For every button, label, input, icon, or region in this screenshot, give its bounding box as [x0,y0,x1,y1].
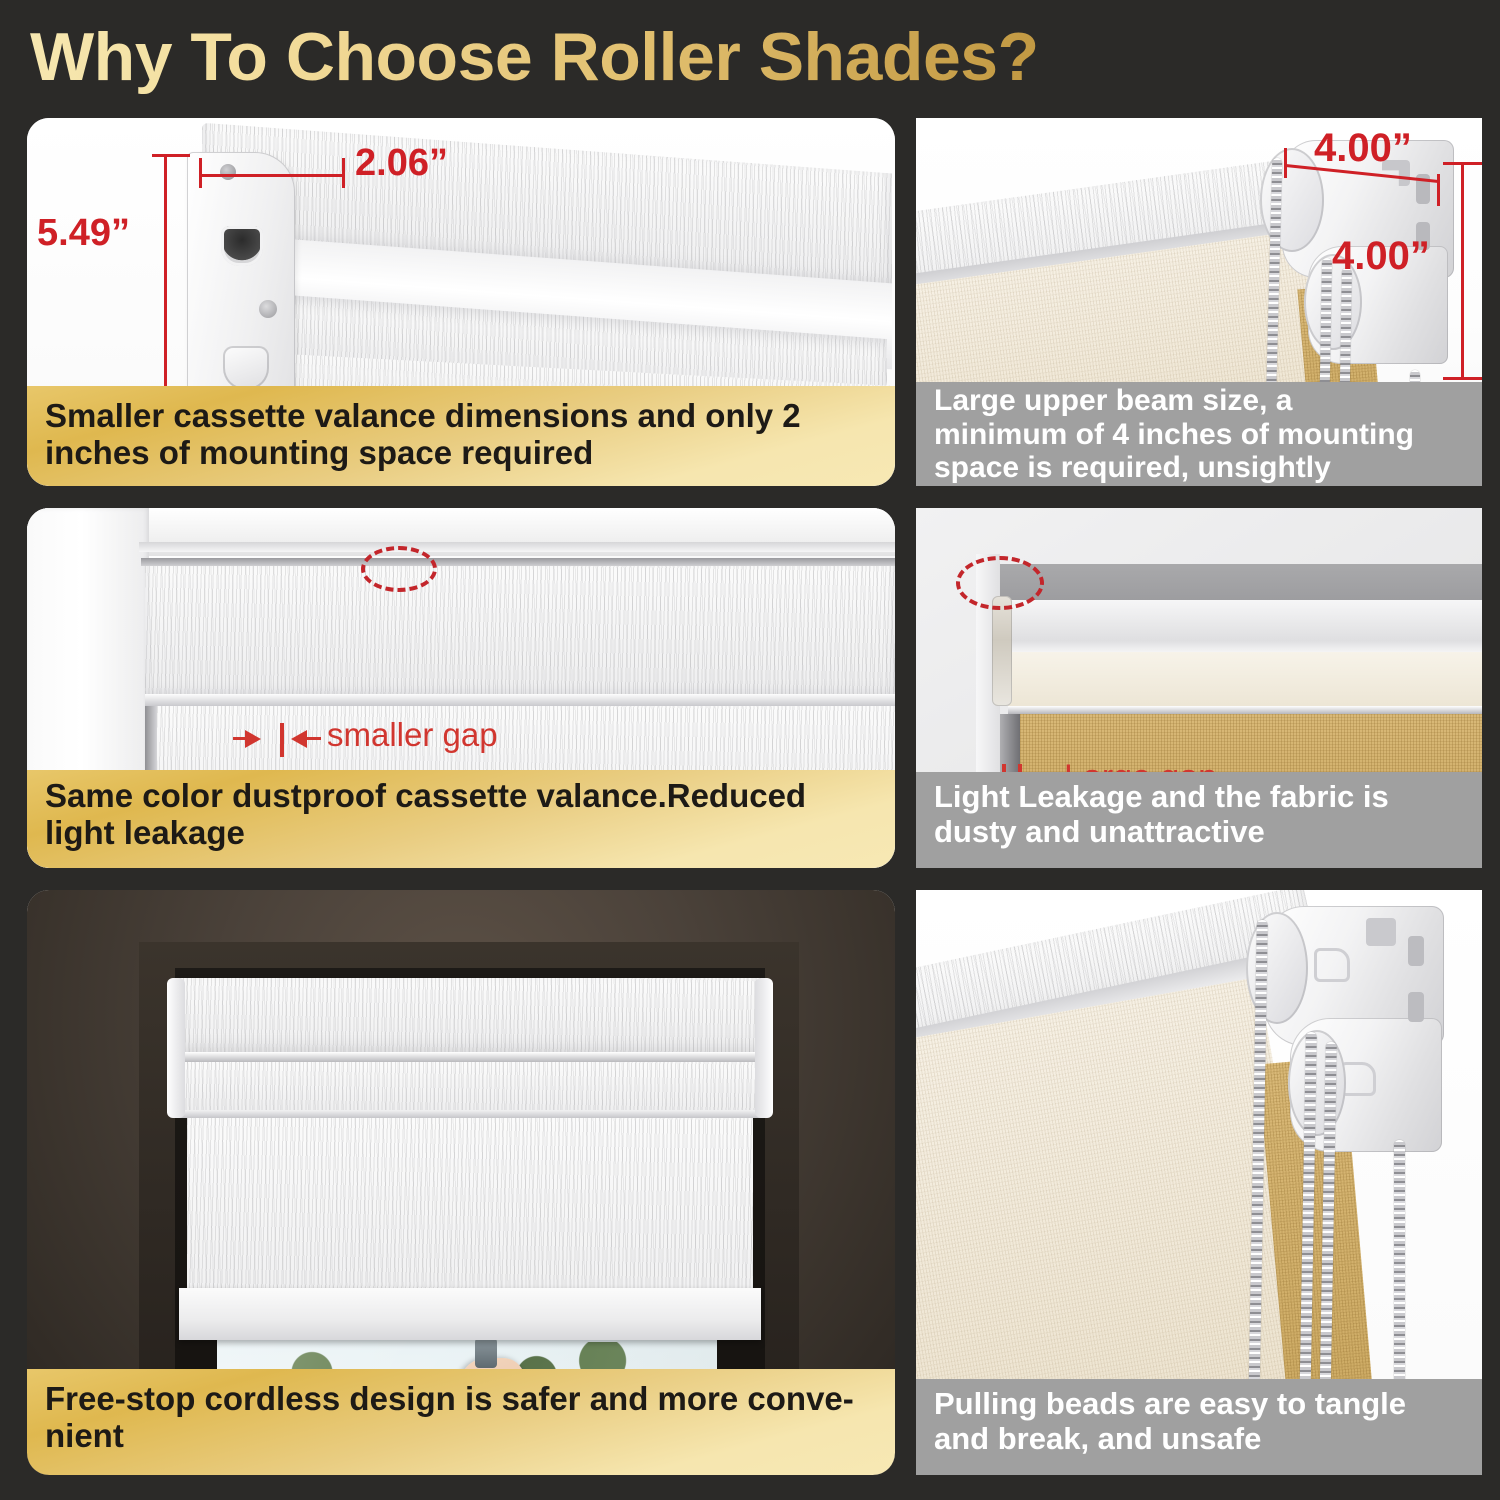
caption-middle-left: Same color dustproof cassette valance.Re… [27,770,895,868]
gap-arrow-right-stem [305,737,321,740]
beam-width-tick-left [1284,148,1287,178]
valance-lower-band [175,1062,765,1114]
width-dimension-line [199,174,345,177]
caption-bottom-right: Pulling beads are easy to tangle and bre… [916,1379,1482,1475]
gap-arrow-left-stem [233,737,249,740]
cord-slot-icon [221,226,263,266]
bracket-slot-icon-2 [1408,992,1424,1022]
bracket-notch-icon [1366,918,1396,946]
height-dimension-label: 5.49” [37,212,130,255]
valance-face [145,566,895,698]
beam-height-dimension-line [1461,162,1464,380]
bracket-slot-icon-1 [1408,936,1424,966]
bracket-clip-icon [223,346,269,390]
valance-band-cream [1008,652,1482,710]
page-title: Why To Choose Roller Shades? [30,14,1130,100]
panel-middle-right: Large gap Light Leakage and the fabric i… [916,508,1482,868]
valance-lower-edge [175,1110,765,1118]
caption-bottom-left: Free-stop cordless design is safer and m… [27,1369,895,1475]
valance-band-bottom-edge [1008,706,1482,714]
bracket-emblem-icon-upper [1314,948,1350,982]
caption-top-right: Large upper beam size, a minimum of 4 in… [916,382,1482,486]
gap-callout-label: smaller gap [327,716,498,754]
roller-end-cap-lower [1288,1030,1346,1136]
valance-end-cap-left [167,978,185,1118]
beam-height-dimension-label: 4.00” [1332,234,1430,279]
highlight-ellipse-icon [956,556,1044,610]
width-dimension-tick-right [342,158,345,188]
screw-icon-top [220,164,236,180]
height-dimension-line [164,154,167,420]
caption-middle-right: Light Leakage and the fabric is dusty an… [916,772,1482,868]
beam-height-tick-top [1443,162,1482,165]
screw-icon-upper [259,300,277,318]
panel-top-left: 5.49” 2.06” Smaller cassette valance dim… [27,118,895,486]
valance-seam [175,1052,765,1062]
bottom-rail [179,1288,761,1340]
width-dimension-label: 2.06” [355,142,448,185]
width-dimension-tick-left [199,158,202,188]
beam-width-dimension-label: 4.00” [1314,126,1412,171]
panel-middle-left: smaller gap Same color dustproof cassett… [27,508,895,868]
panel-bottom-right: Pulling beads are easy to tangle and bre… [916,890,1482,1475]
beam-width-tick-right [1437,174,1440,206]
valance-top-edge [141,558,895,566]
shade-mechanism-icon [992,596,1012,706]
panel-top-right: 4.00” 4.00” Large upper beam size, a min… [916,118,1482,486]
highlight-ellipse-icon [361,546,437,592]
valance-bottom-lip [145,694,895,706]
bottom-rail-grip [475,1338,497,1368]
cassette-valance-top [175,978,765,1056]
valance-end-cap-right [755,978,773,1118]
height-dimension-tick-top [152,154,190,157]
caption-top-left: Smaller cassette valance dimensions and … [27,386,895,486]
window-frame-inner-edge [139,542,895,552]
panel-bottom-left: Free-stop cordless design is safer and m… [27,890,895,1475]
beam-height-tick-bottom [1443,377,1482,380]
upper-beam-face [994,600,1482,658]
gap-marker-bar [280,723,284,757]
